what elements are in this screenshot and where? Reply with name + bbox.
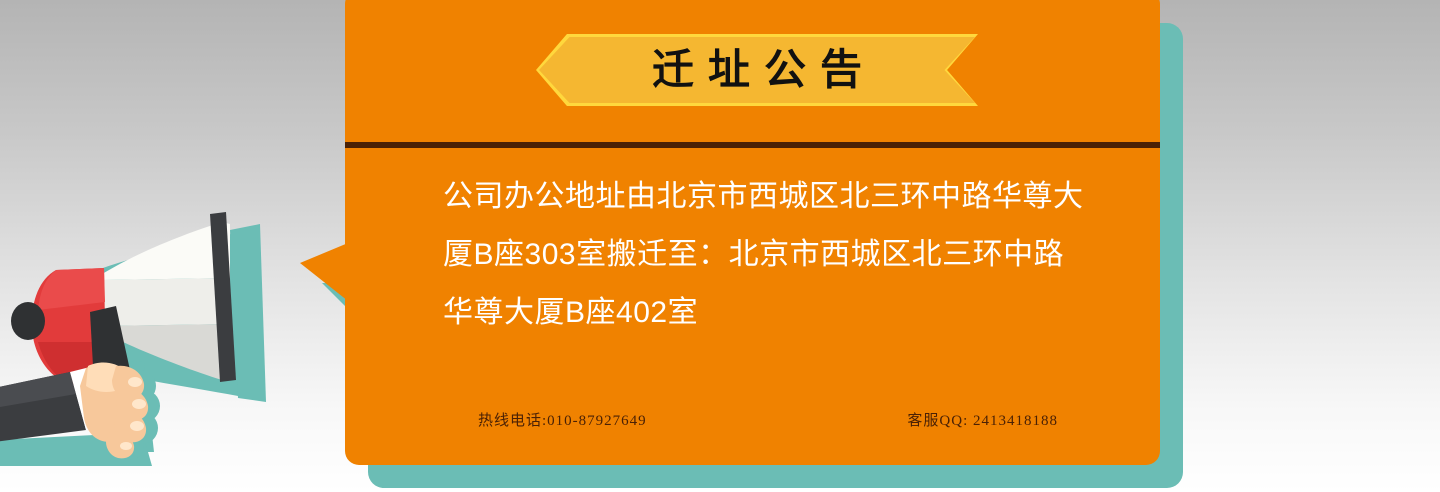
announcement-body-text: 公司办公地址由北京市西城区北三环中路华尊大厦B座303室搬迁至：北京市西城区北三… bbox=[443, 168, 1088, 342]
qq-text: 客服QQ: 2413418188 bbox=[907, 409, 1058, 430]
title-ribbon: 迁址公告 bbox=[536, 34, 978, 106]
speech-tail bbox=[300, 243, 348, 301]
hotline-text: 热线电话:010-87927649 bbox=[478, 409, 647, 430]
announcement-banner: 迁址公告 公司办公地址由北京市西城区北三环中路华尊大厦B座303室搬迁至：北京市… bbox=[0, 0, 1440, 492]
megaphone-illustration bbox=[0, 190, 324, 492]
megaphone-knob-icon bbox=[11, 302, 45, 340]
contact-footer: 热线电话:010-87927649 客服QQ: 2413418188 bbox=[478, 409, 1058, 430]
header-divider bbox=[345, 142, 1160, 148]
page-title: 迁址公告 bbox=[536, 34, 978, 106]
